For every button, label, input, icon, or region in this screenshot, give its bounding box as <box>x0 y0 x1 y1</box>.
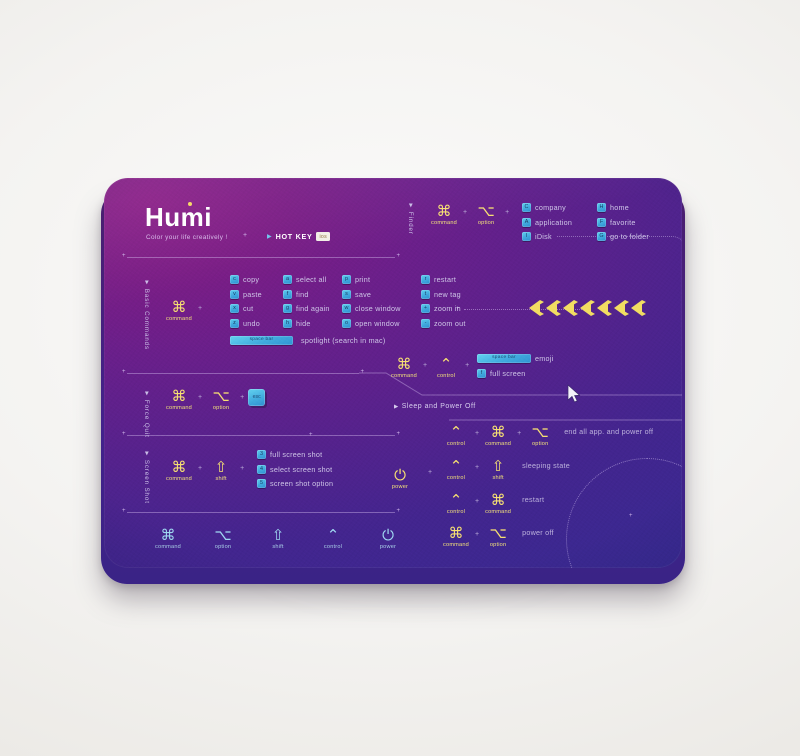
command-icon: ⌘ <box>172 300 187 315</box>
shortcut-label: close window <box>355 304 401 313</box>
legend-label: command <box>155 544 181 550</box>
plus-icon: + <box>471 464 483 471</box>
shortcut-label: copy <box>243 275 259 284</box>
keycap: x <box>230 304 239 313</box>
keycap: I <box>522 232 531 241</box>
modifier-label: command <box>485 509 511 515</box>
spotlight-row: space bar spotlight (search in mac) <box>230 336 386 345</box>
shortcut-row: space bar emoji <box>477 354 553 363</box>
modifier-label: command <box>391 373 417 379</box>
control-icon: ⌃ <box>440 357 453 372</box>
legend-label: power <box>380 544 396 550</box>
modifier-label: command <box>166 316 192 322</box>
plus-icon: + <box>471 498 483 505</box>
shortcut-label: screen shot option <box>270 479 333 488</box>
keycap: a <box>283 275 292 284</box>
modifier-label: command <box>431 220 457 226</box>
triangle-icon: ▶ <box>143 279 150 285</box>
shortcut-label: zoom out <box>434 319 466 328</box>
modifier-command: ⌘ command <box>164 460 194 482</box>
modifier-label: command <box>166 405 192 411</box>
shortcut-row: hhide <box>283 319 330 328</box>
shortcut-row: wclose window <box>342 304 401 313</box>
modifier-command: ⌘ command <box>389 357 419 379</box>
brand-tagline: Color your life creatively ! <box>146 234 228 241</box>
shortcut-label: select screen shot <box>270 465 332 474</box>
modifier-option: ⌥ option <box>483 526 513 548</box>
plus-icon: + <box>194 394 206 401</box>
modifier-control: ⌃ control <box>441 459 471 481</box>
modifier-control: ⌃ control <box>441 425 471 447</box>
shortcut-label: home <box>610 203 629 212</box>
brand-logo: Humi <box>145 204 212 230</box>
shortcut-row: rrestart <box>421 275 466 284</box>
modifier-shift: ⇧ shift <box>483 459 513 481</box>
shortcut-label: hide <box>296 319 311 328</box>
shortcut-label: favorite <box>610 218 636 227</box>
shortcut-label: select all <box>296 275 326 284</box>
legend-label: control <box>324 544 342 550</box>
modifier-label: power <box>392 484 408 490</box>
arrow-decoration-group <box>526 298 648 318</box>
shortcut-row: 5screen shot option <box>257 479 333 488</box>
option-icon: ⌥ <box>532 425 549 440</box>
shortcut-label: spotlight (search in mac) <box>301 336 386 345</box>
modifier-label: command <box>166 476 192 482</box>
divider-top <box>127 257 395 258</box>
shortcut-row: +zoom in <box>421 304 466 313</box>
modifier-shift: ⇧ shift <box>206 460 236 482</box>
shortcut-row: A application <box>522 218 572 227</box>
modifier-label: command <box>443 542 469 548</box>
shortcut-row: ccopy <box>230 275 262 284</box>
basic-column-2: aselect all ffind gfind again hhide <box>283 275 330 333</box>
shortcut-label: find again <box>296 304 330 313</box>
shortcut-label: sleeping state <box>522 461 570 470</box>
triangle-icon: ▶ <box>394 404 399 410</box>
modifier-label: shift <box>492 475 503 481</box>
power-icon: ⏻ <box>382 528 394 543</box>
plus-icon: + <box>419 362 431 369</box>
legend-command: ⌘ command <box>153 528 183 550</box>
plus-icon: + <box>236 465 248 472</box>
modifier-command: ⌘ command <box>429 204 459 226</box>
modifier-label: option <box>213 405 229 411</box>
keycap: h <box>283 319 292 328</box>
triangle-icon: ▶ <box>407 202 414 208</box>
modifier-label: control <box>437 373 455 379</box>
keycap: p <box>342 275 351 284</box>
esc-keycap: esc <box>248 389 265 406</box>
section-tag-basic-commands: ▶Basic Commands <box>143 279 150 350</box>
option-icon: ⌥ <box>489 526 506 541</box>
modifier-label: shift <box>215 476 226 482</box>
modifier-power: ⏻ power <box>385 468 415 490</box>
keycap: c <box>230 275 239 284</box>
keycap: t <box>421 290 430 299</box>
emoji-combo: ⌘ command + ⌃ control + <box>389 357 473 379</box>
section-tag-sleep-power: ▶Sleep and Power Off <box>394 403 476 410</box>
divider-force-quit <box>127 373 359 374</box>
keycap: A <box>522 218 531 227</box>
divider-screenshot <box>127 435 395 436</box>
shortcut-row: G go to folder <box>597 232 649 241</box>
shortcut-label: undo <box>243 319 260 328</box>
force-quit-combo: ⌘ command + ⌥ option + esc <box>164 389 265 411</box>
option-icon: ⌥ <box>212 389 229 404</box>
plus-icon: + <box>471 531 483 538</box>
shortcut-label: save <box>355 290 371 299</box>
shortcut-label: end all app. and power off <box>564 427 653 436</box>
modifier-control: ⌃ control <box>441 493 471 515</box>
shortcut-row: C company <box>522 203 572 212</box>
command-icon: ⌘ <box>491 493 506 508</box>
modifier-label: control <box>447 509 465 515</box>
hotkey-label: HOT KEY <box>276 232 313 241</box>
keycap: f <box>477 369 486 378</box>
shortcut-row: F favorite <box>597 218 649 227</box>
dotted-arc-decor <box>566 458 682 568</box>
plus-icon: + <box>194 305 206 312</box>
shortcut-label: paste <box>243 290 262 299</box>
basic-column-3: pprint ssave wclose window oopen window <box>342 275 401 333</box>
modifier-label: control <box>447 475 465 481</box>
legend-label: shift <box>272 544 283 550</box>
legend-option: ⌥ option <box>208 528 238 550</box>
control-icon: ⌃ <box>450 459 463 474</box>
shortcut-label: iDisk <box>535 232 552 241</box>
modifier-label: option <box>532 441 548 447</box>
modifier-command: ⌘ command <box>164 300 194 322</box>
shortcut-row: H home <box>597 203 649 212</box>
section-tag-finder: ▶Finder <box>407 202 414 235</box>
control-icon: ⌃ <box>450 425 463 440</box>
shortcut-row: tnew tag <box>421 290 466 299</box>
modifier-option: ⌥ option <box>525 425 555 447</box>
finder-column-1: C company A application I iDisk <box>522 203 572 247</box>
legend-control: ⌃ control <box>318 528 348 550</box>
finder-combo: ⌘ command + ⌥ option + <box>429 204 513 226</box>
modifier-label: control <box>447 441 465 447</box>
control-icon: ⌃ <box>450 493 463 508</box>
keycap: C <box>522 203 531 212</box>
sleep-power-row-3: ⌃ control + ⌘ command restart <box>441 493 544 515</box>
keycap: f <box>283 290 292 299</box>
shortcut-row: vpaste <box>230 290 262 299</box>
shortcut-label: cut <box>243 304 253 313</box>
modifier-command: ⌘ command <box>483 493 513 515</box>
shortcut-label: application <box>535 218 572 227</box>
divider-legend <box>127 512 395 513</box>
shortcut-label: print <box>355 275 370 284</box>
spacebar-keycap: space bar <box>477 354 531 363</box>
section-tag-force-quit: ▶Force Quit <box>143 390 150 438</box>
brand-dot-icon <box>188 202 192 206</box>
command-icon: ⌘ <box>161 528 176 543</box>
section-tag-screen-shot: ▶Screen Shot <box>143 450 150 504</box>
spacebar-keycap: space bar <box>230 336 293 345</box>
command-icon: ⌘ <box>437 204 452 219</box>
shortcut-row: ffind <box>283 290 330 299</box>
shortcut-row: aselect all <box>283 275 330 284</box>
option-icon: ⌥ <box>214 528 231 543</box>
basic-column-4: rrestart tnew tag +zoom in -zoom out <box>421 275 466 333</box>
shortcut-row: I iDisk <box>522 232 572 241</box>
emoji-rows: space bar emoji f full screen <box>477 354 553 383</box>
sleep-power-row-2: ⌃ control + ⇧ shift sleeping state <box>441 459 570 481</box>
shortcut-label: full screen <box>490 369 526 378</box>
keycap: z <box>230 319 239 328</box>
modifier-command: ⌘ command <box>164 389 194 411</box>
legend-bar: ⌘ command ⌥ option ⇧ shift ⌃ control ⏻ p… <box>153 528 403 550</box>
keycap: s <box>342 290 351 299</box>
keycap: o <box>342 319 351 328</box>
keycap: 3 <box>257 450 266 459</box>
plus-icon: + <box>236 394 248 401</box>
legend-shift: ⇧ shift <box>263 528 293 550</box>
triangle-icon: ▶ <box>143 390 150 396</box>
shortcut-label: restart <box>434 275 456 284</box>
keycap: 4 <box>257 465 266 474</box>
keycap: g <box>283 304 292 313</box>
keycap: v <box>230 290 239 299</box>
shortcut-row: xcut <box>230 304 262 313</box>
shortcut-row: ssave <box>342 290 401 299</box>
modifier-option: ⌥ option <box>471 204 501 226</box>
sleep-power-row-1: ⌃ control + ⌘ command + ⌥ option end all… <box>441 425 653 447</box>
plus-icon: + <box>194 465 206 472</box>
control-icon: ⌃ <box>327 528 340 543</box>
shortcut-label: find <box>296 290 309 299</box>
legend-label: option <box>215 544 231 550</box>
shortcut-label: emoji <box>535 354 553 363</box>
screen-shot-rows: 3full screen shot 4select screen shot 5s… <box>257 450 333 494</box>
shortcut-label: power off <box>522 528 554 537</box>
shortcut-row: pprint <box>342 275 401 284</box>
chevron-arrows-icon <box>526 298 648 318</box>
screen-shot-combo: ⌘ command + ⇧ shift + <box>164 460 248 482</box>
shift-icon: ⇧ <box>215 460 228 475</box>
plus-decor-icon: + <box>629 513 633 519</box>
shortcut-label: open window <box>355 319 400 328</box>
modifier-label: command <box>485 441 511 447</box>
modifier-label: option <box>490 542 506 548</box>
command-icon: ⌘ <box>397 357 412 372</box>
legend-power: ⏻ power <box>373 528 403 550</box>
plus-icon: + <box>424 469 436 476</box>
shortcut-row: f full screen <box>477 369 553 378</box>
keycap: 5 <box>257 479 266 488</box>
mousepad: Humi Color your life creatively ! + ▶ HO… <box>101 178 685 582</box>
platform-badge: ios <box>316 232 330 241</box>
shortcut-label: company <box>535 203 566 212</box>
shortcut-row: -zoom out <box>421 319 466 328</box>
shortcut-row: gfind again <box>283 304 330 313</box>
basic-commands-combo: ⌘ command + <box>164 300 206 322</box>
shortcut-row: 3full screen shot <box>257 450 333 459</box>
plus-icon: + <box>471 430 483 437</box>
shortcut-label: zoom in <box>434 304 461 313</box>
keycap: G <box>597 232 606 241</box>
shortcut-label: new tag <box>434 290 461 299</box>
modifier-option: ⌥ option <box>206 389 236 411</box>
keycap: w <box>342 304 351 313</box>
keycap: + <box>421 304 430 313</box>
keycap: - <box>421 319 430 328</box>
shortcut-label: go to folder <box>610 232 649 241</box>
hotkey-badge-group: ▶ HOT KEY ios <box>267 232 330 241</box>
plus-decor-icon: + <box>243 232 247 239</box>
triangle-icon: ▶ <box>143 450 150 456</box>
power-icon: ⏻ <box>394 468 406 483</box>
plus-icon: + <box>501 209 513 216</box>
plus-icon: + <box>459 209 471 216</box>
shortcut-label: full screen shot <box>270 450 322 459</box>
product-photo-scene: Humi Color your life creatively ! + ▶ HO… <box>0 0 800 756</box>
mouse-cursor-icon <box>566 384 582 404</box>
plus-icon: + <box>513 430 525 437</box>
basic-column-1: ccopy vpaste xcut zundo <box>230 275 262 333</box>
command-icon: ⌘ <box>449 526 464 541</box>
mousepad-surface: Humi Color your life creatively ! + ▶ HO… <box>104 178 682 568</box>
command-icon: ⌘ <box>172 389 187 404</box>
command-icon: ⌘ <box>172 460 187 475</box>
plus-icon: + <box>461 362 473 369</box>
sleep-power-row-4: ⌘ command + ⌥ option power off <box>441 526 554 548</box>
modifier-command: ⌘ command <box>483 425 513 447</box>
triangle-icon: ▶ <box>267 233 272 240</box>
keycap: H <box>597 203 606 212</box>
modifier-control: ⌃ control <box>431 357 461 379</box>
dotted-corner-decor <box>557 236 682 357</box>
shortcut-label: restart <box>522 495 544 504</box>
keycap: r <box>421 275 430 284</box>
shortcut-row: 4select screen shot <box>257 465 333 474</box>
power-key: ⏻ power <box>385 468 415 490</box>
shortcut-row: zundo <box>230 319 262 328</box>
finder-column-2: H home F favorite G go to folder <box>597 203 649 247</box>
shortcut-row: oopen window <box>342 319 401 328</box>
shift-icon: ⇧ <box>272 528 285 543</box>
modifier-command: ⌘ command <box>441 526 471 548</box>
command-icon: ⌘ <box>491 425 506 440</box>
modifier-label: option <box>478 220 494 226</box>
keycap: F <box>597 218 606 227</box>
shift-icon: ⇧ <box>492 459 505 474</box>
option-icon: ⌥ <box>477 204 494 219</box>
plus-decor-icon: + <box>309 432 313 438</box>
